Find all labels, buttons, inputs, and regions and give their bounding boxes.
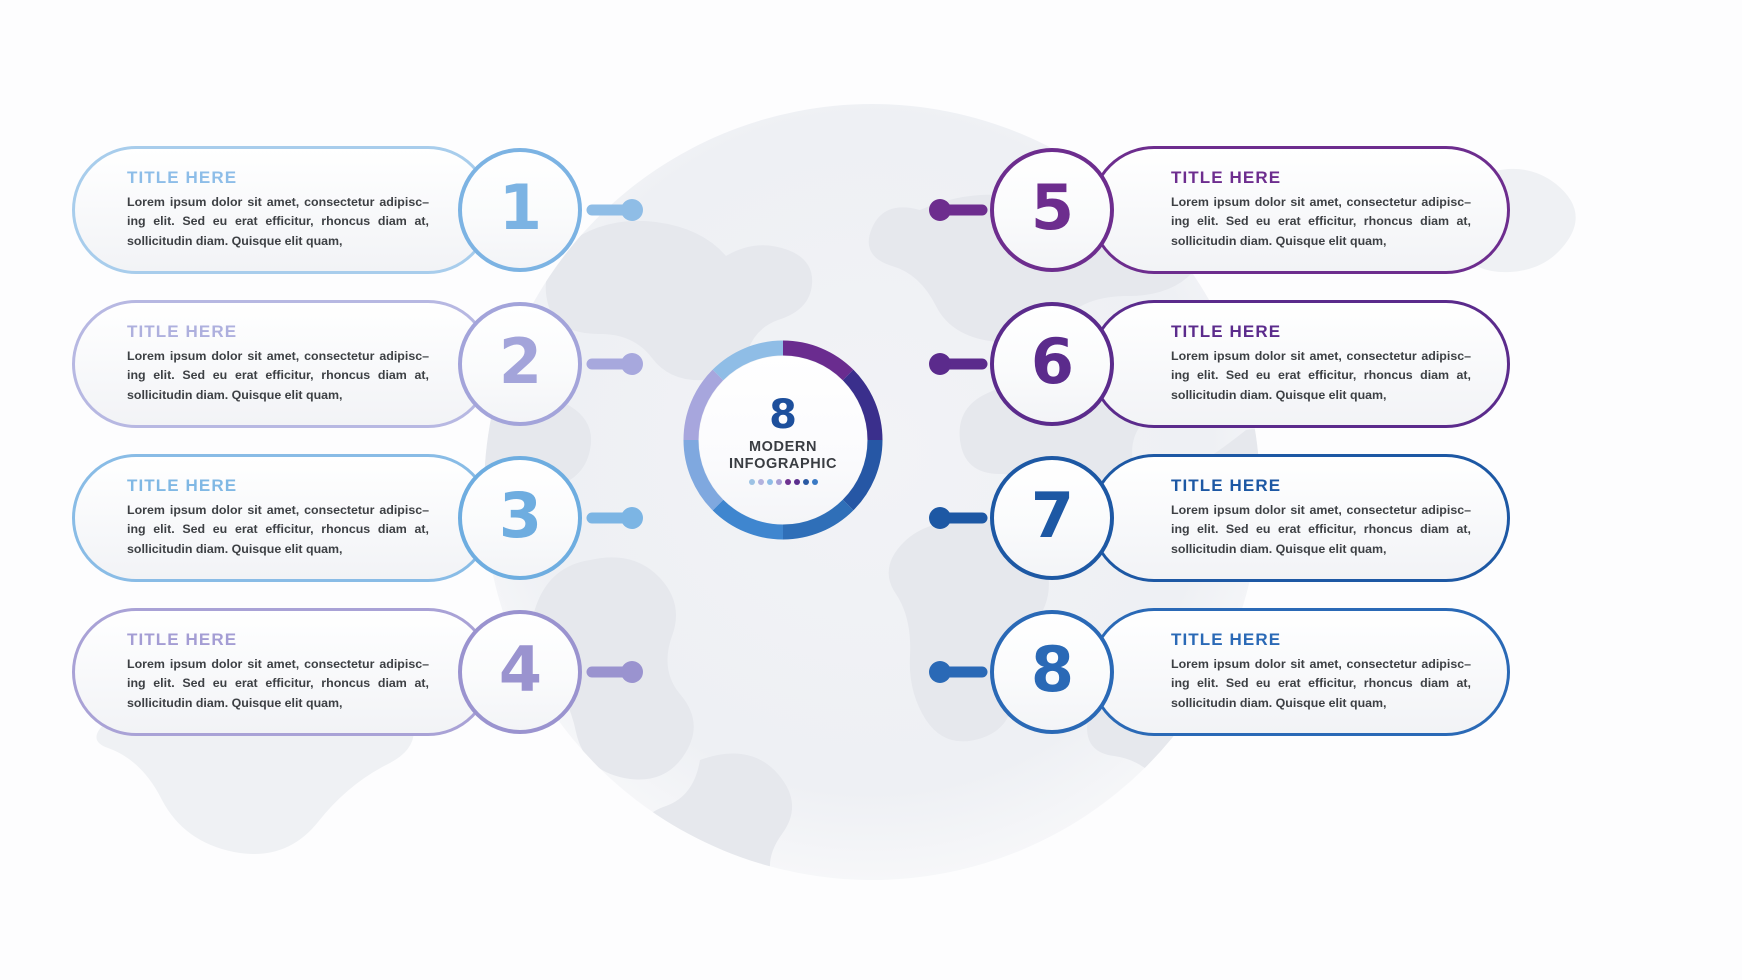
step-title-6: TITLE HERE [1171,323,1281,340]
step-title-7: TITLE HERE [1171,477,1281,494]
step-body-8: Lorem ipsum dolor sit amet, consectetur … [1171,655,1471,713]
hub-label-line1: MODERN [749,439,817,456]
step-panel-3[interactable]: TITLE HERE Lorem ipsum dolor sit amet, c… [72,454,492,582]
step-body-5: Lorem ipsum dolor sit amet, consectetur … [1171,193,1471,251]
step-body-6: Lorem ipsum dolor sit amet, consectetur … [1171,347,1471,405]
step-title-1: TITLE HERE [127,169,237,186]
step-title-3: TITLE HERE [127,477,237,494]
step-number-circle-3[interactable]: 3 [458,456,582,580]
step-number-8: 8 [1031,639,1073,701]
step-body-3: Lorem ipsum dolor sit amet, consectetur … [127,501,429,559]
step-number-6: 6 [1031,331,1073,393]
step-title-8: TITLE HERE [1171,631,1281,648]
center-hub[interactable]: 8 MODERN INFOGRAPHIC [683,340,883,540]
step-number-circle-1[interactable]: 1 [458,148,582,272]
step-panel-8[interactable]: TITLE HERE Lorem ipsum dolor sit amet, c… [1090,608,1510,736]
step-body-1: Lorem ipsum dolor sit amet, consectetur … [127,193,429,251]
hub-dot-legend [749,479,818,485]
step-number-1: 1 [499,177,541,239]
step-number-3: 3 [499,485,541,547]
step-panel-5[interactable]: TITLE HERE Lorem ipsum dolor sit amet, c… [1090,146,1510,274]
step-body-7: Lorem ipsum dolor sit amet, consectetur … [1171,501,1471,559]
hub-label-line2: INFOGRAPHIC [729,456,837,473]
step-number-7: 7 [1031,485,1073,547]
step-panel-7[interactable]: TITLE HERE Lorem ipsum dolor sit amet, c… [1090,454,1510,582]
step-panel-2[interactable]: TITLE HERE Lorem ipsum dolor sit amet, c… [72,300,492,428]
step-number-circle-5[interactable]: 5 [990,148,1114,272]
hub-face: 8 MODERN INFOGRAPHIC [699,356,867,524]
infographic-canvas: TITLE HERE Lorem ipsum dolor sit amet, c… [0,0,1742,980]
step-number-4: 4 [499,639,541,701]
step-number-circle-8[interactable]: 8 [990,610,1114,734]
step-body-2: Lorem ipsum dolor sit amet, consectetur … [127,347,429,405]
step-title-4: TITLE HERE [127,631,237,648]
step-number-2: 2 [499,331,541,393]
step-number-circle-4[interactable]: 4 [458,610,582,734]
step-number-circle-7[interactable]: 7 [990,456,1114,580]
step-body-4: Lorem ipsum dolor sit amet, consectetur … [127,655,429,713]
step-panel-6[interactable]: TITLE HERE Lorem ipsum dolor sit amet, c… [1090,300,1510,428]
step-panel-4[interactable]: TITLE HERE Lorem ipsum dolor sit amet, c… [72,608,492,736]
step-panel-1[interactable]: TITLE HERE Lorem ipsum dolor sit amet, c… [72,146,492,274]
step-number-circle-6[interactable]: 6 [990,302,1114,426]
step-title-2: TITLE HERE [127,323,237,340]
step-title-5: TITLE HERE [1171,169,1281,186]
step-number-5: 5 [1031,177,1073,239]
step-number-circle-2[interactable]: 2 [458,302,582,426]
hub-number: 8 [769,395,797,435]
